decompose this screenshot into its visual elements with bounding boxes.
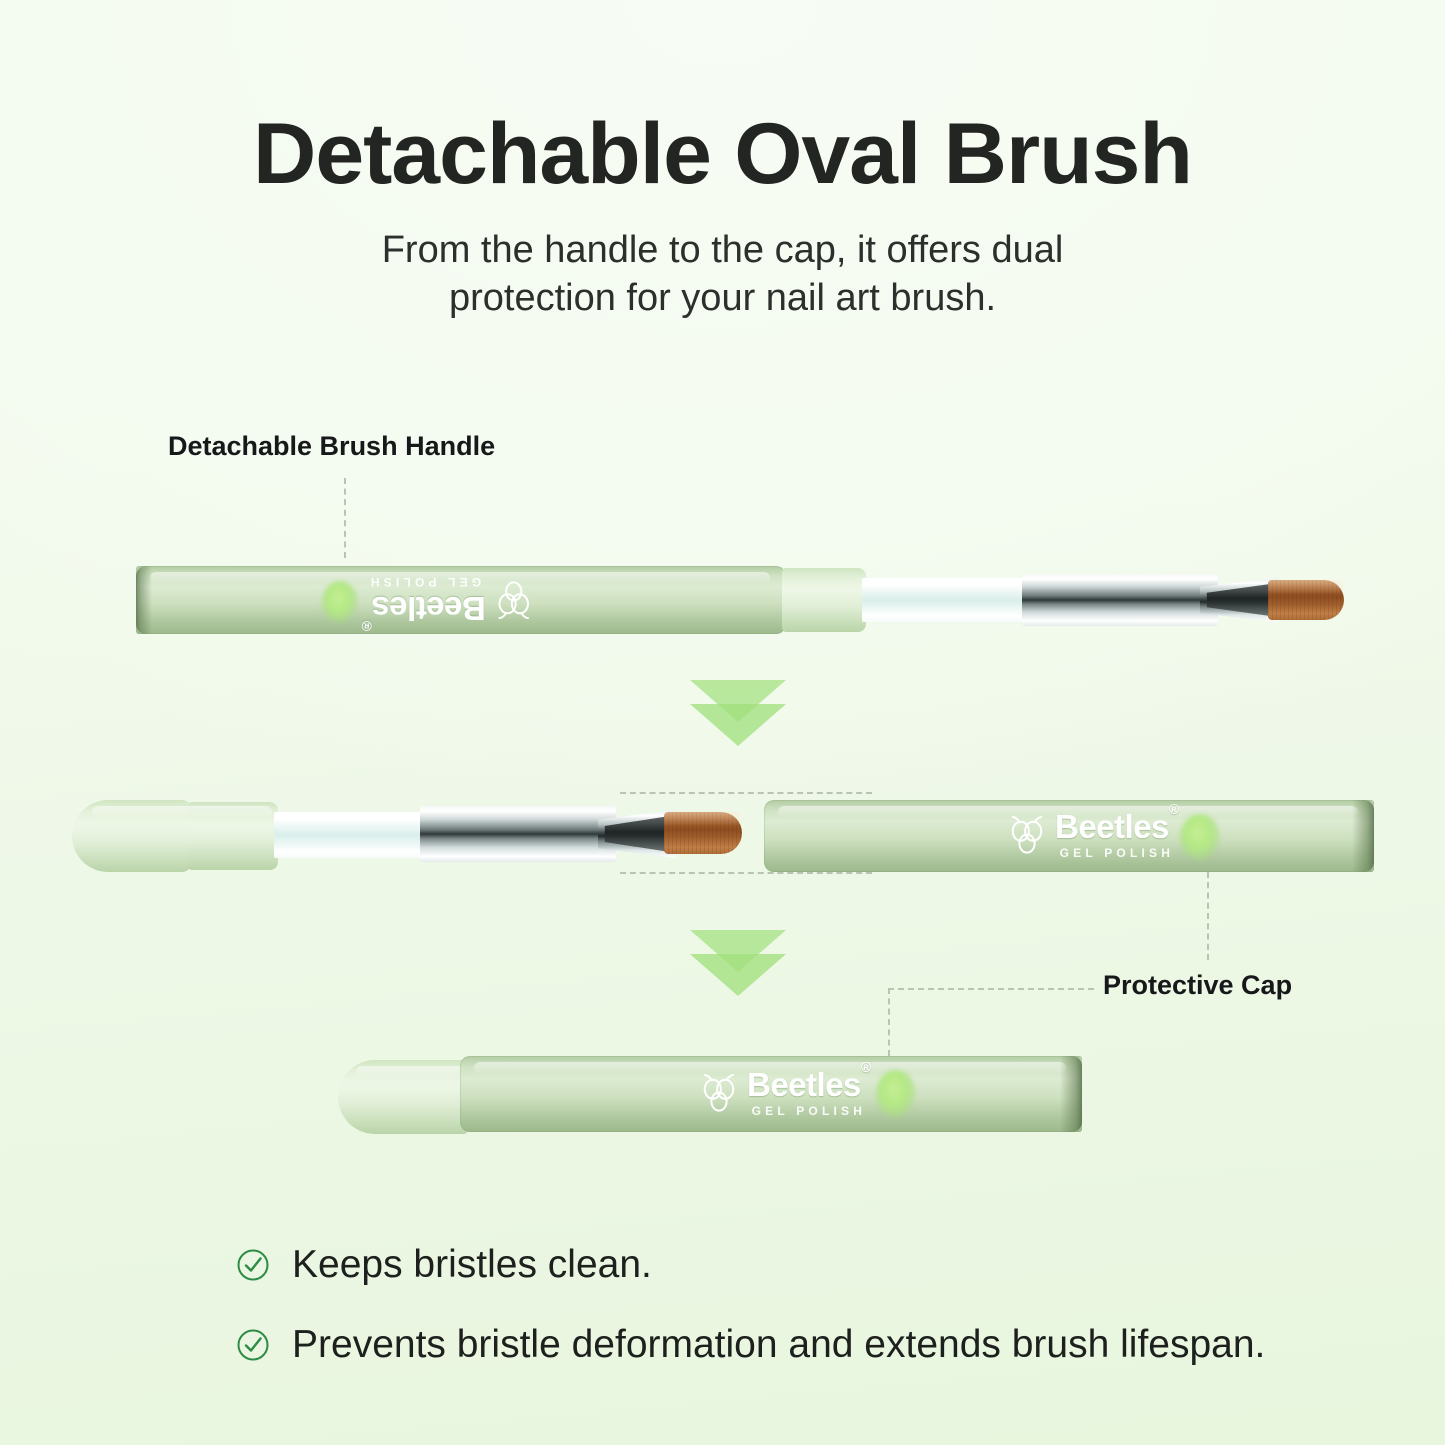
metal-ferrule	[1022, 574, 1218, 626]
leader-line-cap-upper	[1207, 872, 1209, 960]
step-arrow-1	[690, 680, 786, 746]
bristles-highlight	[664, 812, 742, 826]
barrel-left-rim	[136, 566, 152, 634]
beetle-logo-icon	[1008, 815, 1046, 855]
cap-glow-dot	[1180, 814, 1220, 860]
infographic-page: Detachable Oval Brush From the handle to…	[0, 0, 1445, 1445]
barrel-glow-dot	[322, 581, 358, 623]
handle-gloss-highlight	[92, 806, 272, 818]
brand-tagline: GEL POLISH	[747, 1105, 871, 1117]
bristles-highlight	[1268, 580, 1344, 594]
chevron-down-icon	[690, 954, 786, 996]
check-circle-icon	[236, 1248, 270, 1282]
callout-label-handle: Detachable Brush Handle	[168, 431, 495, 462]
brand-name: Beetles®	[747, 1068, 871, 1101]
cap-right-rim	[1352, 800, 1374, 872]
benefit-text: Prevents bristle deformation and extends…	[292, 1323, 1265, 1367]
brand-lockup: Beetles® GEL POLISH	[1008, 810, 1179, 859]
brand-text-block: Beetles® GEL POLISH	[362, 576, 486, 625]
list-item: Keeps bristles clean.	[236, 1243, 1265, 1287]
brush-shaft	[862, 578, 1024, 622]
benefit-text: Keeps bristles clean.	[292, 1243, 652, 1287]
cap-glow-dot	[876, 1070, 916, 1118]
brand-text-block: Beetles® GEL POLISH	[1055, 810, 1179, 859]
alignment-guide-top	[620, 792, 872, 794]
list-item: Prevents bristle deformation and extends…	[236, 1323, 1265, 1367]
brand-tagline: GEL POLISH	[362, 576, 486, 588]
metal-ferrule	[420, 806, 616, 862]
check-circle-icon	[236, 1328, 270, 1362]
brand-lockup-inverted: Beetles® GEL POLISH	[362, 576, 533, 625]
brand-tagline: GEL POLISH	[1055, 847, 1179, 859]
benefits-list: Keeps bristles clean. Prevents bristle d…	[236, 1243, 1265, 1403]
handle-collar	[782, 568, 866, 632]
brand-lockup: Beetles® GEL POLISH	[700, 1068, 871, 1117]
alignment-guide-bottom	[620, 872, 872, 874]
leader-line-cap-lower	[888, 988, 890, 1056]
brush-shaft	[274, 812, 422, 858]
page-subtitle: From the handle to the cap, it offers du…	[333, 226, 1113, 322]
callout-label-cap: Protective Cap	[1103, 970, 1292, 1001]
step-arrow-2	[690, 930, 786, 996]
cap-right-rim	[1060, 1056, 1082, 1132]
brand-text-block: Beetles® GEL POLISH	[747, 1068, 871, 1117]
leader-line-cap-horizontal	[888, 988, 1094, 990]
brand-name: Beetles®	[1055, 810, 1179, 843]
handle-gloss-highlight	[356, 1066, 466, 1078]
beetle-logo-icon	[495, 581, 533, 621]
page-title: Detachable Oval Brush	[0, 108, 1445, 200]
brand-name: Beetles®	[362, 592, 486, 625]
leader-line-handle	[344, 478, 346, 558]
beetle-logo-icon	[700, 1073, 738, 1113]
chevron-down-icon	[690, 704, 786, 746]
